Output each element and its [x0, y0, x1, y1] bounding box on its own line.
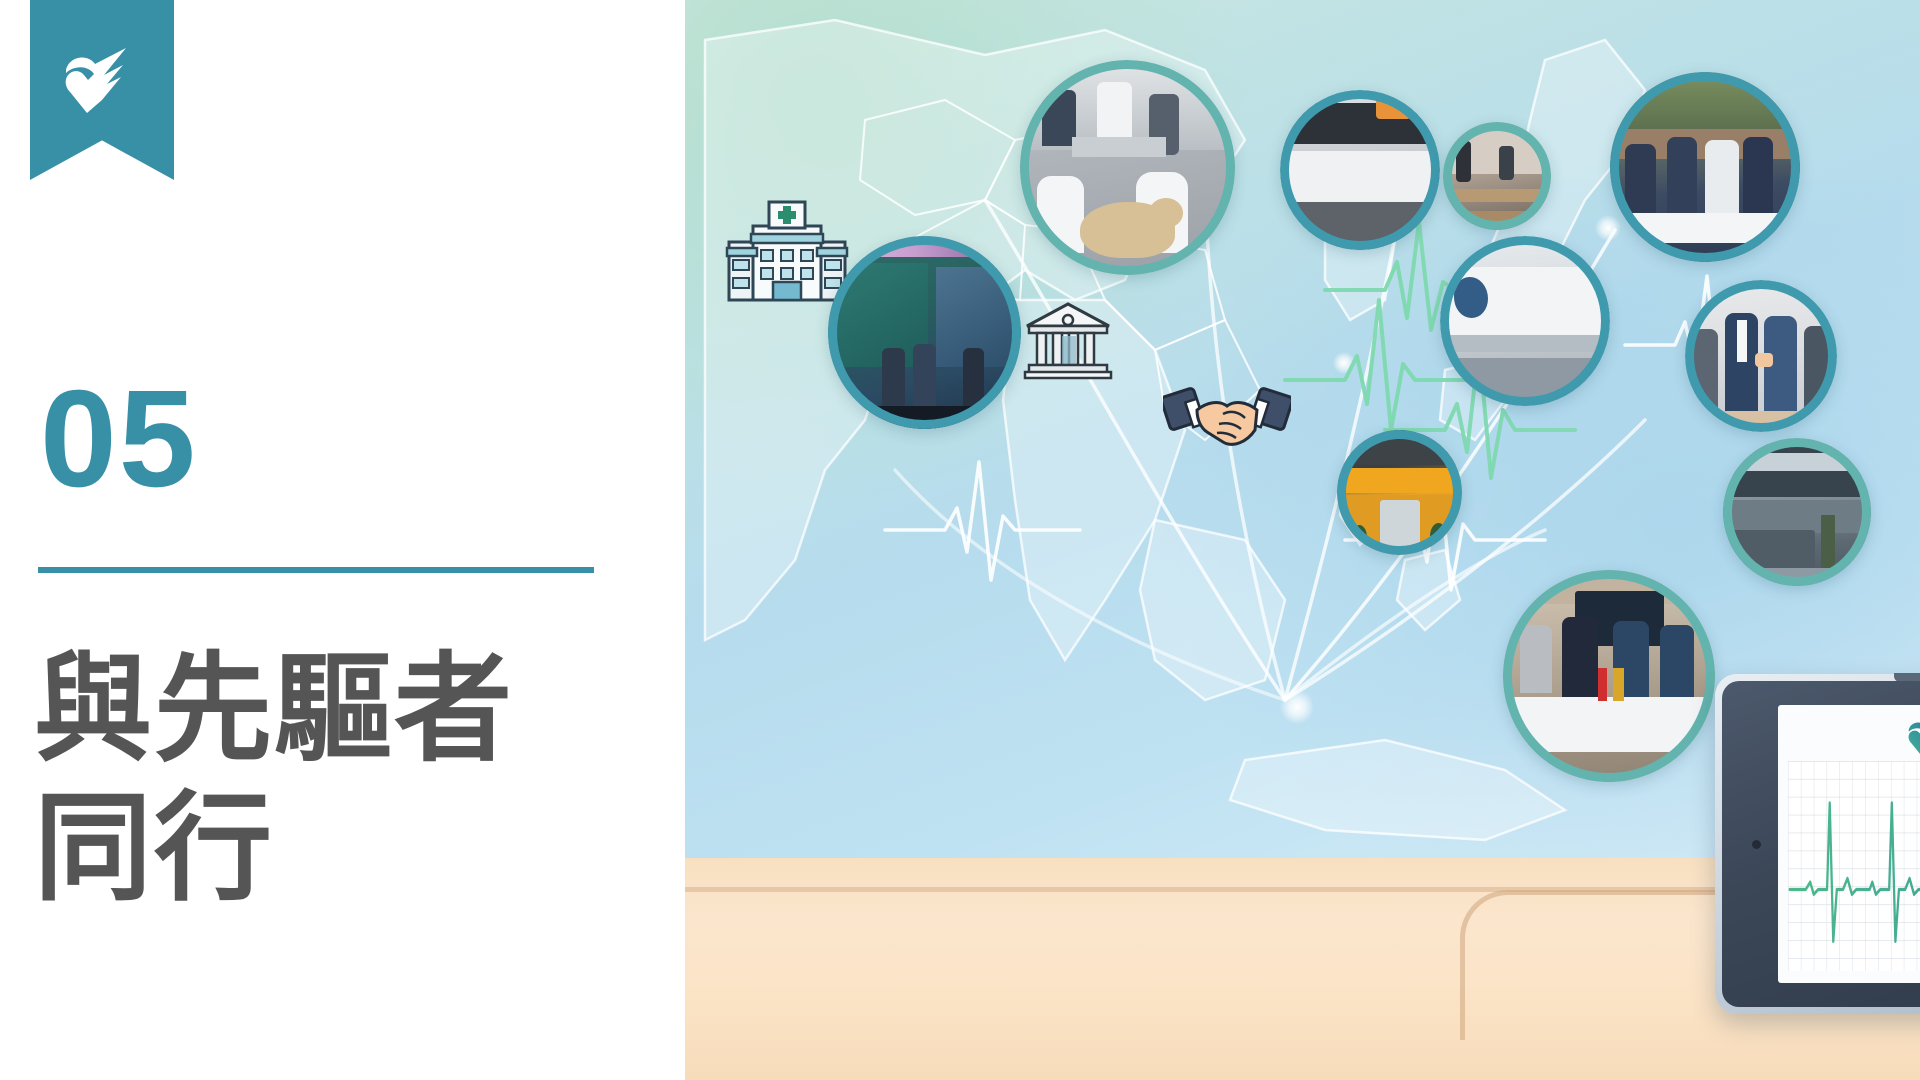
photo-ring: [1280, 90, 1440, 250]
left-text-panel: 05 與先驅者 同行: [0, 0, 685, 1080]
slide-root: 05 與先驅者 同行: [0, 0, 1920, 1080]
headline-line-2: 同行: [34, 779, 654, 918]
photo-animal-hospital-storefront[interactable]: 愛心動物醫院: [1337, 430, 1462, 555]
photo-field-clinic-team[interactable]: [1610, 72, 1800, 262]
section-divider: [38, 567, 594, 573]
photo-ring: [1440, 236, 1610, 406]
photo-vet-partners-storefront[interactable]: VET PARTNERS: [1280, 90, 1440, 250]
brand-banner-logo: [30, 0, 174, 180]
handshake-icon: [1163, 374, 1291, 467]
photo-ring: [1723, 438, 1871, 586]
tablet-bezel: [1722, 681, 1920, 1007]
photo-executives-handshake[interactable]: [1685, 280, 1837, 432]
photo-ring: [1443, 122, 1551, 230]
photo-techup-award-ceremony[interactable]: TECH UP: [828, 236, 1021, 429]
page-title: 與先驅者 同行: [34, 640, 654, 918]
photo-mou-signing-ceremony[interactable]: [1503, 570, 1715, 782]
photo-ring: [1610, 72, 1800, 262]
photo-ring: [1337, 430, 1462, 555]
tablet-device[interactable]: [1715, 674, 1920, 1014]
headline-line-1: 與先驅者: [34, 640, 654, 779]
institution-bank-icon: [1023, 300, 1113, 385]
ecg-chart: [1788, 761, 1920, 971]
photo-china-agricultural-university-vet-hospital[interactable]: 中國農業大學動物醫院: [1440, 236, 1610, 406]
tablet-camera: [1752, 840, 1761, 849]
section-number: 05: [40, 370, 198, 508]
photo-vet-clinic-dog-exam[interactable]: [1020, 60, 1235, 275]
tablet-screen[interactable]: [1778, 705, 1920, 983]
cardiobird-logo-mark-icon: [1904, 715, 1920, 764]
photo-ring: [1020, 60, 1235, 275]
illustration-panel: VET PARTNERS: [685, 0, 1920, 1080]
photo-ring: [1503, 570, 1715, 782]
photo-ring: [1685, 280, 1837, 432]
photo-training-classroom[interactable]: [1443, 122, 1551, 230]
photo-ring: [828, 236, 1021, 429]
cardiobird-bird-heart-logo-icon: [58, 46, 146, 118]
photo-snu-animal-healthcare-center[interactable]: SNU 반려동물검진센터: [1723, 438, 1871, 586]
